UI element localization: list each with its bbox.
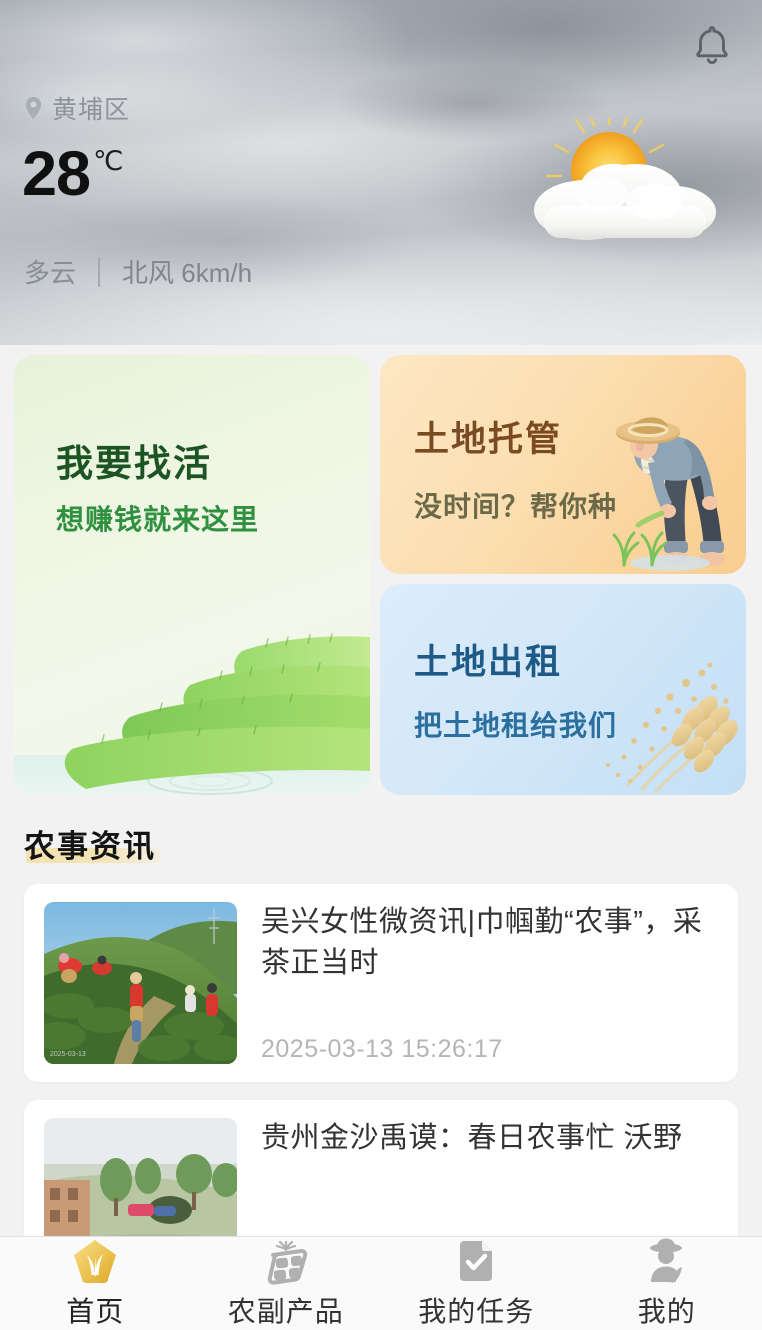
promo-subtitle: 没时间？帮你种 bbox=[414, 485, 617, 525]
promo-card-land-rental[interactable]: 土地出租 把土地租给我们 bbox=[380, 584, 746, 795]
tab-label: 农副产品 bbox=[228, 1290, 344, 1330]
tab-my-tasks[interactable]: 我的任务 bbox=[381, 1237, 572, 1330]
bell-icon bbox=[689, 23, 735, 69]
weather-condition-row: 多云 北风 6km/h bbox=[24, 253, 252, 290]
bottom-tab-bar: 首页 农副产品 我的任务 bbox=[0, 1236, 762, 1330]
terraced-fields-icon bbox=[14, 605, 370, 795]
farmer-profile-icon bbox=[642, 1237, 692, 1285]
tea-plantation-photo: 2025-03-13 bbox=[44, 902, 237, 1064]
tab-label: 我的 bbox=[638, 1290, 696, 1330]
news-timestamp: 2025-03-13 15:26:17 bbox=[261, 1035, 718, 1064]
promo-title: 我要找活 bbox=[56, 433, 212, 487]
app-root: 黄埔区 28 ℃ 多云 北风 6km/h bbox=[0, 0, 762, 1330]
weather-icon bbox=[514, 118, 734, 248]
weather-condition-label: 多云 bbox=[24, 253, 76, 290]
promo-subtitle: 想赚钱就来这里 bbox=[56, 498, 259, 538]
promo-card-find-work[interactable]: 我要找活 想赚钱就来这里 bbox=[14, 355, 370, 795]
task-document-icon bbox=[451, 1237, 501, 1285]
produce-basket-icon bbox=[261, 1237, 311, 1285]
page-scroll-area[interactable]: 黄埔区 28 ℃ 多云 北风 6km/h bbox=[0, 0, 762, 1330]
location-row[interactable]: 黄埔区 bbox=[24, 90, 130, 126]
tab-produce[interactable]: 农副产品 bbox=[191, 1237, 382, 1330]
promo-card-land-trusteeship[interactable]: 土地托管 没时间？帮你种 bbox=[380, 355, 746, 574]
farmer-planting-illustration bbox=[600, 397, 740, 574]
wind-label: 北风 6km/h bbox=[122, 253, 252, 290]
temperature-row: 28 ℃ bbox=[22, 143, 123, 205]
news-section-header: 农事资讯 bbox=[24, 821, 156, 866]
news-title: 贵州金沙禹谟：春日农事忙 沃野 bbox=[261, 1118, 718, 1159]
promo-cards-right-column: 土地托管 没时间？帮你种 bbox=[380, 355, 746, 795]
terraced-fields-illustration bbox=[14, 605, 370, 795]
condition-divider bbox=[98, 257, 100, 287]
section-title: 农事资讯 bbox=[24, 829, 156, 864]
promo-title: 土地托管 bbox=[414, 411, 562, 462]
promo-title: 土地出租 bbox=[414, 634, 562, 685]
location-pin-icon bbox=[24, 96, 43, 120]
tab-home[interactable]: 首页 bbox=[0, 1237, 191, 1330]
promo-cards: 我要找活 想赚钱就来这里 bbox=[0, 355, 762, 795]
temperature-unit: ℃ bbox=[93, 147, 123, 175]
news-title: 吴兴女性微资讯|巾帼勤“农事”，采茶正当时 bbox=[261, 902, 718, 984]
farmer-planting-icon bbox=[600, 397, 740, 574]
news-thumbnail: 2025-03-13 bbox=[44, 902, 237, 1064]
notification-bell-button[interactable] bbox=[684, 18, 740, 74]
temperature-value: 28 bbox=[22, 143, 90, 205]
location-label: 黄埔区 bbox=[52, 90, 130, 126]
news-list-item[interactable]: 2025-03-13 吴兴女性微资讯|巾帼勤“农事”，采茶正当时 2025-03… bbox=[24, 884, 738, 1082]
svg-text:2025-03-13: 2025-03-13 bbox=[50, 1051, 86, 1058]
home-sprout-icon bbox=[70, 1237, 120, 1285]
tab-profile[interactable]: 我的 bbox=[572, 1237, 762, 1330]
tab-label: 我的任务 bbox=[418, 1290, 534, 1330]
weather-header: 黄埔区 28 ℃ 多云 北风 6km/h bbox=[0, 0, 762, 345]
wheat-sheaf-illustration bbox=[594, 653, 744, 793]
news-body: 吴兴女性微资讯|巾帼勤“农事”，采茶正当时 2025-03-13 15:26:1… bbox=[261, 902, 718, 1064]
tab-label: 首页 bbox=[66, 1290, 124, 1330]
wheat-sheaf-icon bbox=[594, 653, 744, 793]
sun-behind-cloud-icon bbox=[514, 118, 734, 248]
promo-subtitle: 把土地租给我们 bbox=[414, 704, 617, 744]
